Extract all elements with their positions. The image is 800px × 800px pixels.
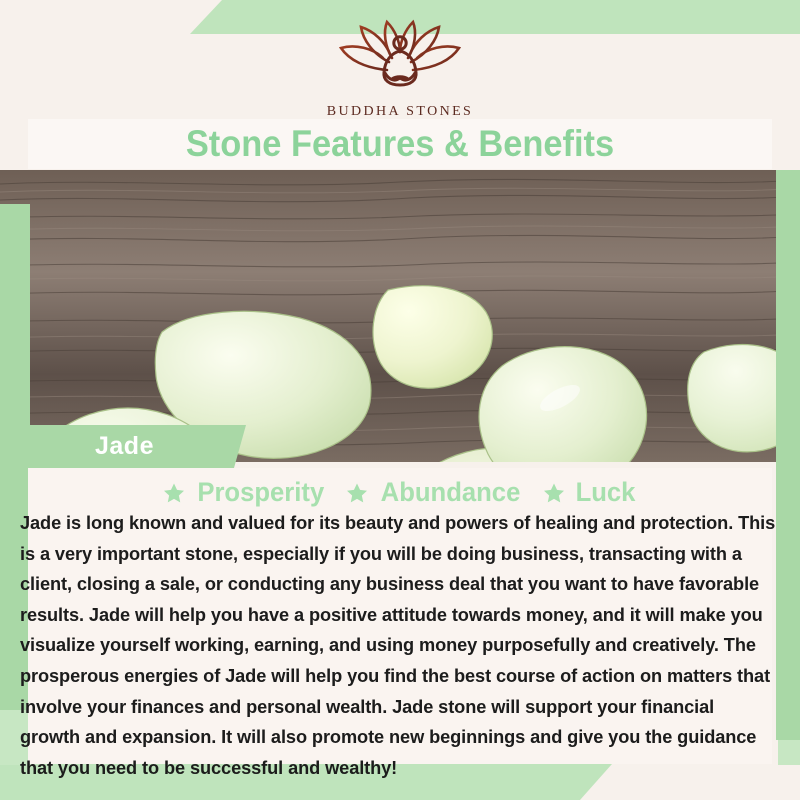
brand-logo: BUDDHA STONES [325, 18, 475, 120]
keyword-luck: Luck [576, 477, 636, 508]
keyword-prosperity: Prosperity [197, 477, 324, 508]
keyword-abundance: Abundance [381, 477, 521, 508]
star-icon [543, 482, 565, 504]
star-icon [163, 482, 185, 504]
stone-photo [0, 170, 800, 462]
star-icon [346, 482, 368, 504]
stone-description: Jade is long known and valued for its be… [20, 508, 776, 783]
brand-name: BUDDHA STONES [325, 104, 475, 120]
lotus-meditation-icon [325, 18, 475, 101]
infographic-card: BUDDHA STONES Stone Features & Benefits [0, 0, 800, 800]
right-green-bar [776, 170, 800, 740]
stone-name: Jade [95, 425, 154, 468]
keyword-list: Prosperity Abundance Luck [0, 477, 800, 508]
brand-header: BUDDHA STONES [0, 0, 800, 122]
page-title: Stone Features & Benefits [28, 119, 772, 169]
